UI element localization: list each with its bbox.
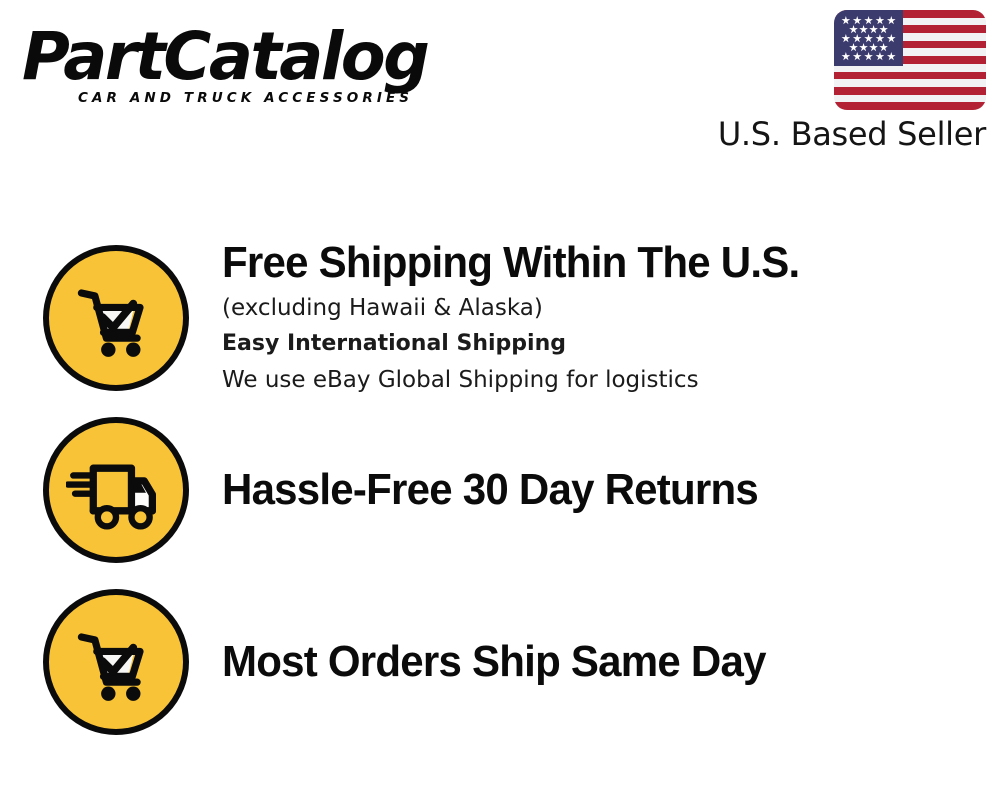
feature-row: Most Orders Ship Same Day xyxy=(0,576,1000,748)
star-row xyxy=(839,25,898,34)
star-icon xyxy=(864,52,873,61)
flag-canton xyxy=(834,10,903,66)
star-icon xyxy=(864,34,873,43)
star-icon xyxy=(864,16,873,25)
star-icon xyxy=(869,43,878,52)
star-icon xyxy=(853,34,862,43)
star-icon xyxy=(859,43,868,52)
star-icon xyxy=(869,25,878,34)
star-icon xyxy=(859,25,868,34)
star-icon xyxy=(879,25,888,34)
star-icon xyxy=(875,16,884,25)
brand-logo: PartCatalog CAR AND TRUCK ACCESSORIES xyxy=(22,22,492,106)
seller-badge-label: U.S. Based Seller xyxy=(718,116,986,152)
feature-text: Free Shipping Within The U.S. (excluding… xyxy=(222,238,1000,398)
feature-title: Hassle-Free 30 Day Returns xyxy=(222,465,965,515)
delivery-truck-icon xyxy=(43,417,189,563)
star-icon xyxy=(841,16,850,25)
star-row xyxy=(839,34,898,43)
star-icon xyxy=(875,52,884,61)
star-row xyxy=(839,43,898,52)
feature-subtitle-2: Easy International Shipping xyxy=(222,326,1000,362)
banner-header: PartCatalog CAR AND TRUCK ACCESSORIES xyxy=(0,0,1000,165)
feature-subtitle-3: We use eBay Global Shipping for logistic… xyxy=(222,362,1000,398)
feature-title: Free Shipping Within The U.S. xyxy=(222,238,965,288)
feature-text: Hassle-Free 30 Day Returns xyxy=(222,465,1000,515)
shopping-cart-check-icon xyxy=(43,589,189,735)
star-icon xyxy=(849,43,858,52)
star-icon xyxy=(879,43,888,52)
promo-banner: PartCatalog CAR AND TRUCK ACCESSORIES xyxy=(0,0,1000,800)
feature-subtitle-1: (excluding Hawaii & Alaska) xyxy=(222,290,1000,326)
feature-icon-wrap xyxy=(42,417,190,563)
feature-row: Hassle-Free 30 Day Returns xyxy=(0,404,1000,576)
star-icon xyxy=(853,16,862,25)
feature-title: Most Orders Ship Same Day xyxy=(222,637,965,687)
star-icon xyxy=(853,52,862,61)
star-row xyxy=(839,52,898,61)
star-icon xyxy=(887,52,896,61)
feature-list: Free Shipping Within The U.S. (excluding… xyxy=(0,232,1000,748)
star-icon xyxy=(849,25,858,34)
star-icon xyxy=(841,52,850,61)
star-row xyxy=(839,16,898,25)
feature-icon-wrap xyxy=(42,589,190,735)
star-icon xyxy=(841,34,850,43)
feature-row: Free Shipping Within The U.S. (excluding… xyxy=(0,232,1000,404)
star-icon xyxy=(887,34,896,43)
star-icon xyxy=(875,34,884,43)
brand-wordmark: PartCatalog xyxy=(22,22,487,92)
star-icon xyxy=(887,16,896,25)
us-based-seller-badge: U.S. Based Seller xyxy=(718,10,986,152)
us-flag-icon xyxy=(834,10,986,110)
shopping-cart-check-icon xyxy=(43,245,189,391)
feature-icon-wrap xyxy=(42,245,190,391)
feature-text: Most Orders Ship Same Day xyxy=(222,637,1000,687)
